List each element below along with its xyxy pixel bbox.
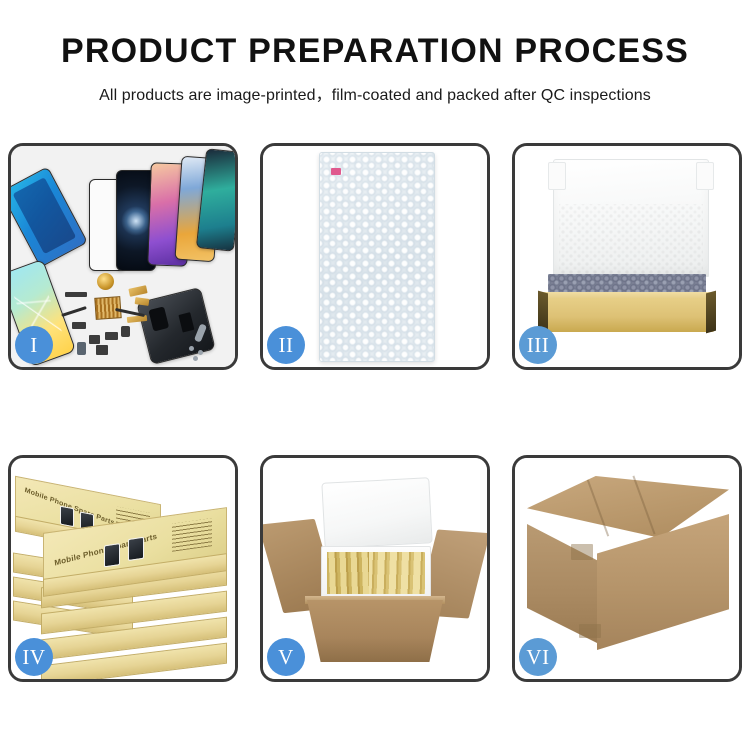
yellow-boxes-vertical (327, 552, 369, 594)
bubble-wrap-sleeve (319, 152, 435, 362)
blue-back-cover (11, 166, 88, 267)
process-step-1[interactable]: I (8, 143, 238, 370)
gold-flex-2 (135, 297, 150, 306)
process-step-3[interactable]: III (512, 143, 742, 370)
page-header: PRODUCT PREPARATION PROCESS All products… (0, 0, 750, 105)
pink-protective-tab (331, 168, 341, 175)
small-chip-1 (65, 292, 87, 297)
step-6-badge: VI (519, 638, 557, 676)
small-chip-6 (96, 345, 108, 355)
box-phone-front-1 (104, 543, 120, 567)
page-title: PRODUCT PREPARATION PROCESS (0, 30, 750, 72)
process-step-5[interactable]: V (260, 455, 490, 682)
process-step-grid: I II III (8, 143, 742, 682)
process-step-6[interactable]: VI (512, 455, 742, 682)
small-chip-4 (105, 332, 118, 340)
small-chip-2 (72, 322, 86, 329)
process-step-4[interactable]: Mobile Phone Spare Parts Mobile Phone Sp… (8, 455, 238, 682)
step-2-badge: II (267, 326, 305, 364)
carton-right-face (597, 514, 729, 650)
foam-box-lid (321, 477, 432, 549)
step-5-badge: V (267, 638, 305, 676)
small-chip-5 (121, 326, 130, 337)
carton-tab-lower (579, 624, 601, 638)
page-subtitle: All products are image-printed，film-coat… (0, 81, 750, 105)
box-phone-front-2 (128, 537, 144, 561)
gold-flex-1 (128, 285, 147, 297)
carton-body (307, 600, 443, 662)
ribbon-cable-1 (61, 306, 87, 317)
step-1-badge: I (15, 326, 53, 364)
kraft-tray-body (539, 298, 715, 332)
box-spec-lines-front (172, 518, 212, 552)
process-step-2[interactable]: II (260, 143, 490, 370)
sim-tray-part (77, 342, 86, 355)
screws-group (189, 346, 194, 351)
foam-texture (559, 204, 703, 276)
carton-tab-upper (571, 544, 593, 560)
step-3-badge: III (519, 326, 557, 364)
step-4-badge: IV (15, 638, 53, 676)
small-chip-3 (89, 335, 100, 344)
gold-coil-part (97, 273, 114, 290)
